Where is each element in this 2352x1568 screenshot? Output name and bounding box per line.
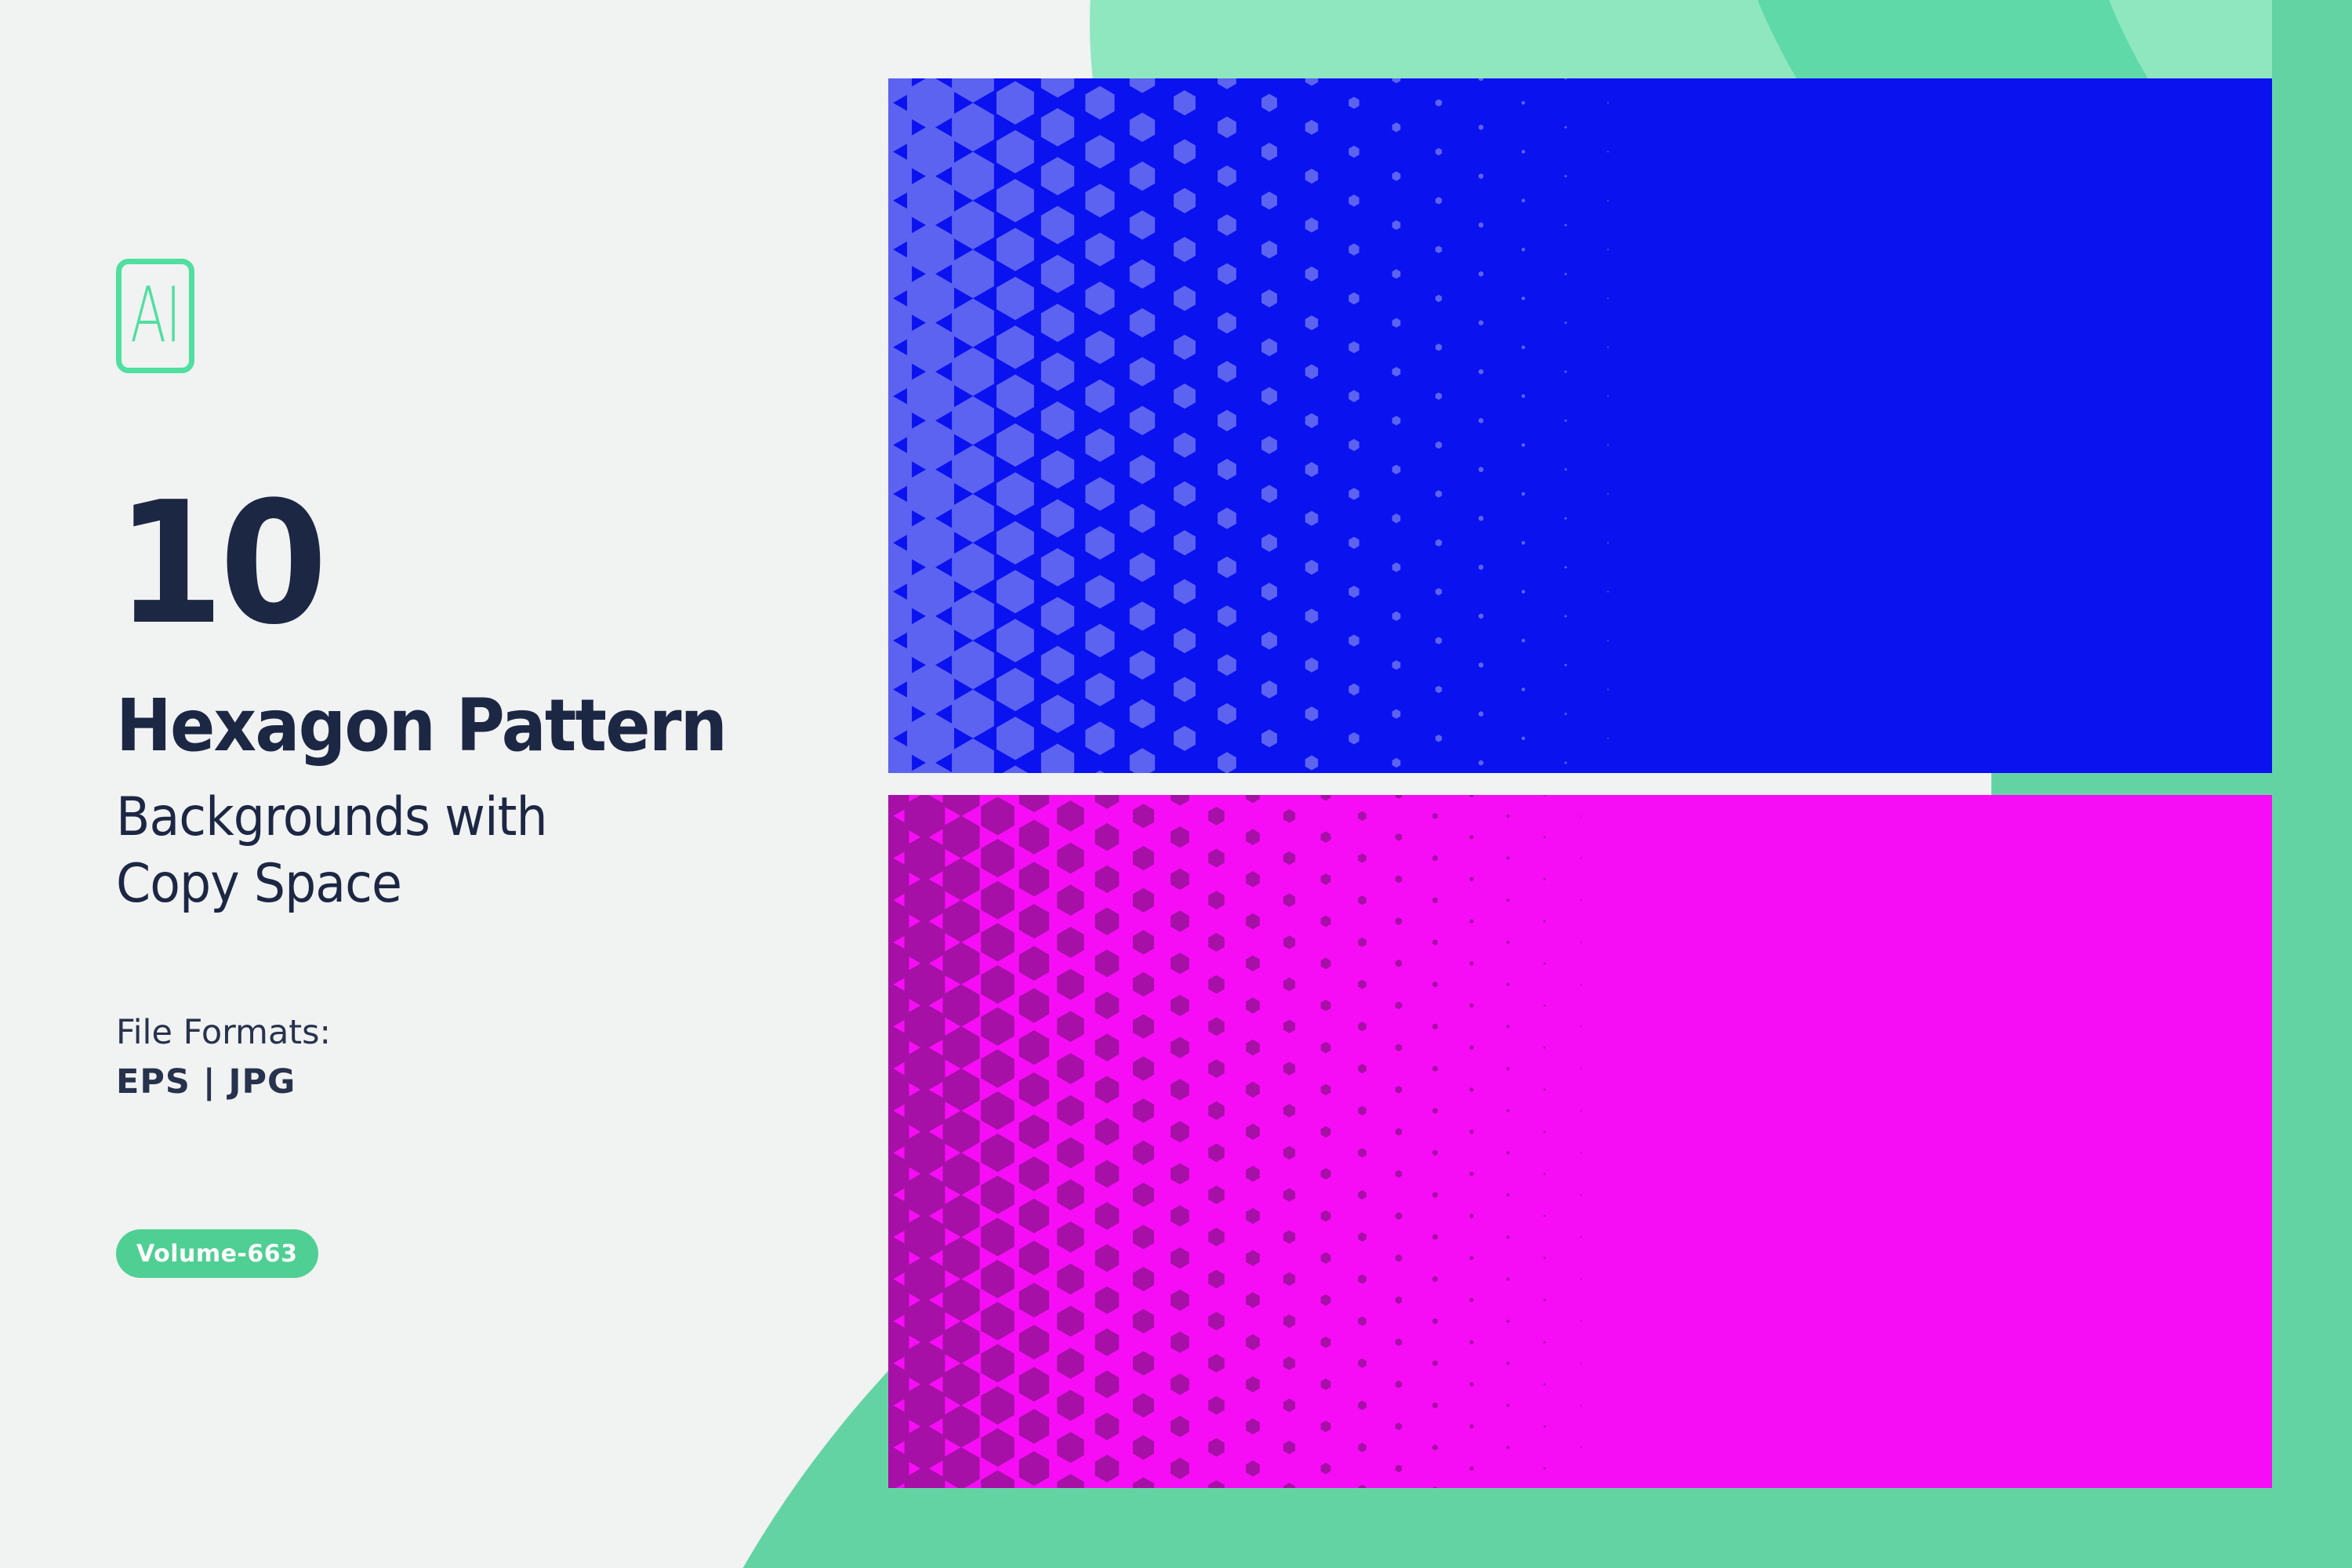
volume-badge: Volume-663: [116, 1229, 318, 1278]
volume-badge-label: Volume-663: [136, 1240, 298, 1268]
blue-hexagon-halftone-graphic: [888, 78, 2272, 773]
poster-canvas: AI 10 Hexagon Pattern Backgrounds with C…: [0, 0, 2352, 1568]
preview-blue-hexagon[interactable]: [888, 78, 2272, 773]
ai-file-icon: AI: [116, 259, 194, 373]
green-block-right-decoration: [2272, 0, 2352, 1568]
item-count: 10: [116, 486, 323, 641]
info-column: AI 10 Hexagon Pattern Backgrounds with C…: [116, 0, 853, 1568]
page-subtitle: Backgrounds with Copy Space: [116, 784, 547, 917]
subtitle-line-2: Copy Space: [116, 851, 547, 917]
preview-magenta-hexagon[interactable]: [888, 795, 2272, 1488]
subtitle-line-1: Backgrounds with: [116, 784, 547, 851]
file-formats-label: File Formats:: [116, 1013, 331, 1052]
magenta-hexagon-halftone-graphic: [888, 795, 2272, 1488]
ai-badge-label: AI: [130, 278, 180, 354]
file-formats-value: EPS | JPG: [116, 1062, 296, 1102]
page-title: Hexagon Pattern: [116, 690, 726, 762]
